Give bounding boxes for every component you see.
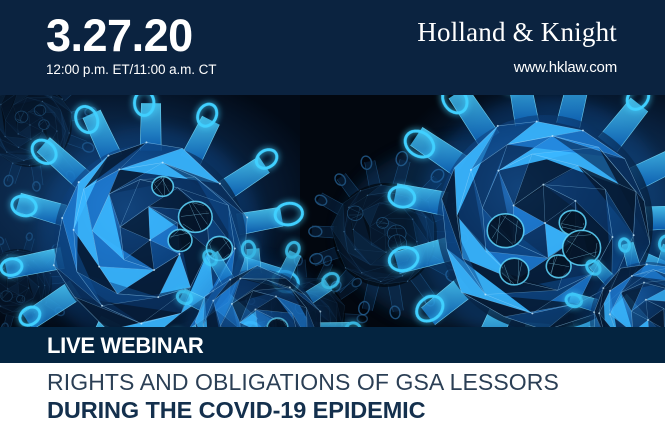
webinar-promo-banner: 3.27.20 12:00 p.m. ET/11:00 a.m. CT Holl…: [0, 0, 665, 435]
brand-block: Holland & Knight www.hklaw.com: [417, 16, 617, 78]
brand-logo-text: Holland & Knight: [417, 16, 617, 48]
event-date: 3.27.20: [46, 13, 216, 59]
live-webinar-bar: LIVE WEBINAR: [0, 327, 665, 363]
title-area: RIGHTS AND OBLIGATIONS OF GSA LESSORS DU…: [0, 363, 665, 435]
live-webinar-label: LIVE WEBINAR: [47, 333, 204, 359]
brand-website-url[interactable]: www.hklaw.com: [417, 58, 617, 78]
virus-icon: [0, 95, 665, 327]
hero-virus-illustration: [0, 95, 665, 327]
title-line-primary: RIGHTS AND OBLIGATIONS OF GSA LESSORS: [47, 368, 559, 396]
banner-header: 3.27.20 12:00 p.m. ET/11:00 a.m. CT Holl…: [0, 0, 665, 95]
event-time: 12:00 p.m. ET/11:00 a.m. CT: [46, 61, 216, 79]
event-date-block: 3.27.20 12:00 p.m. ET/11:00 a.m. CT: [46, 13, 216, 79]
title-line-secondary: DURING THE COVID-19 EPIDEMIC: [47, 396, 425, 424]
